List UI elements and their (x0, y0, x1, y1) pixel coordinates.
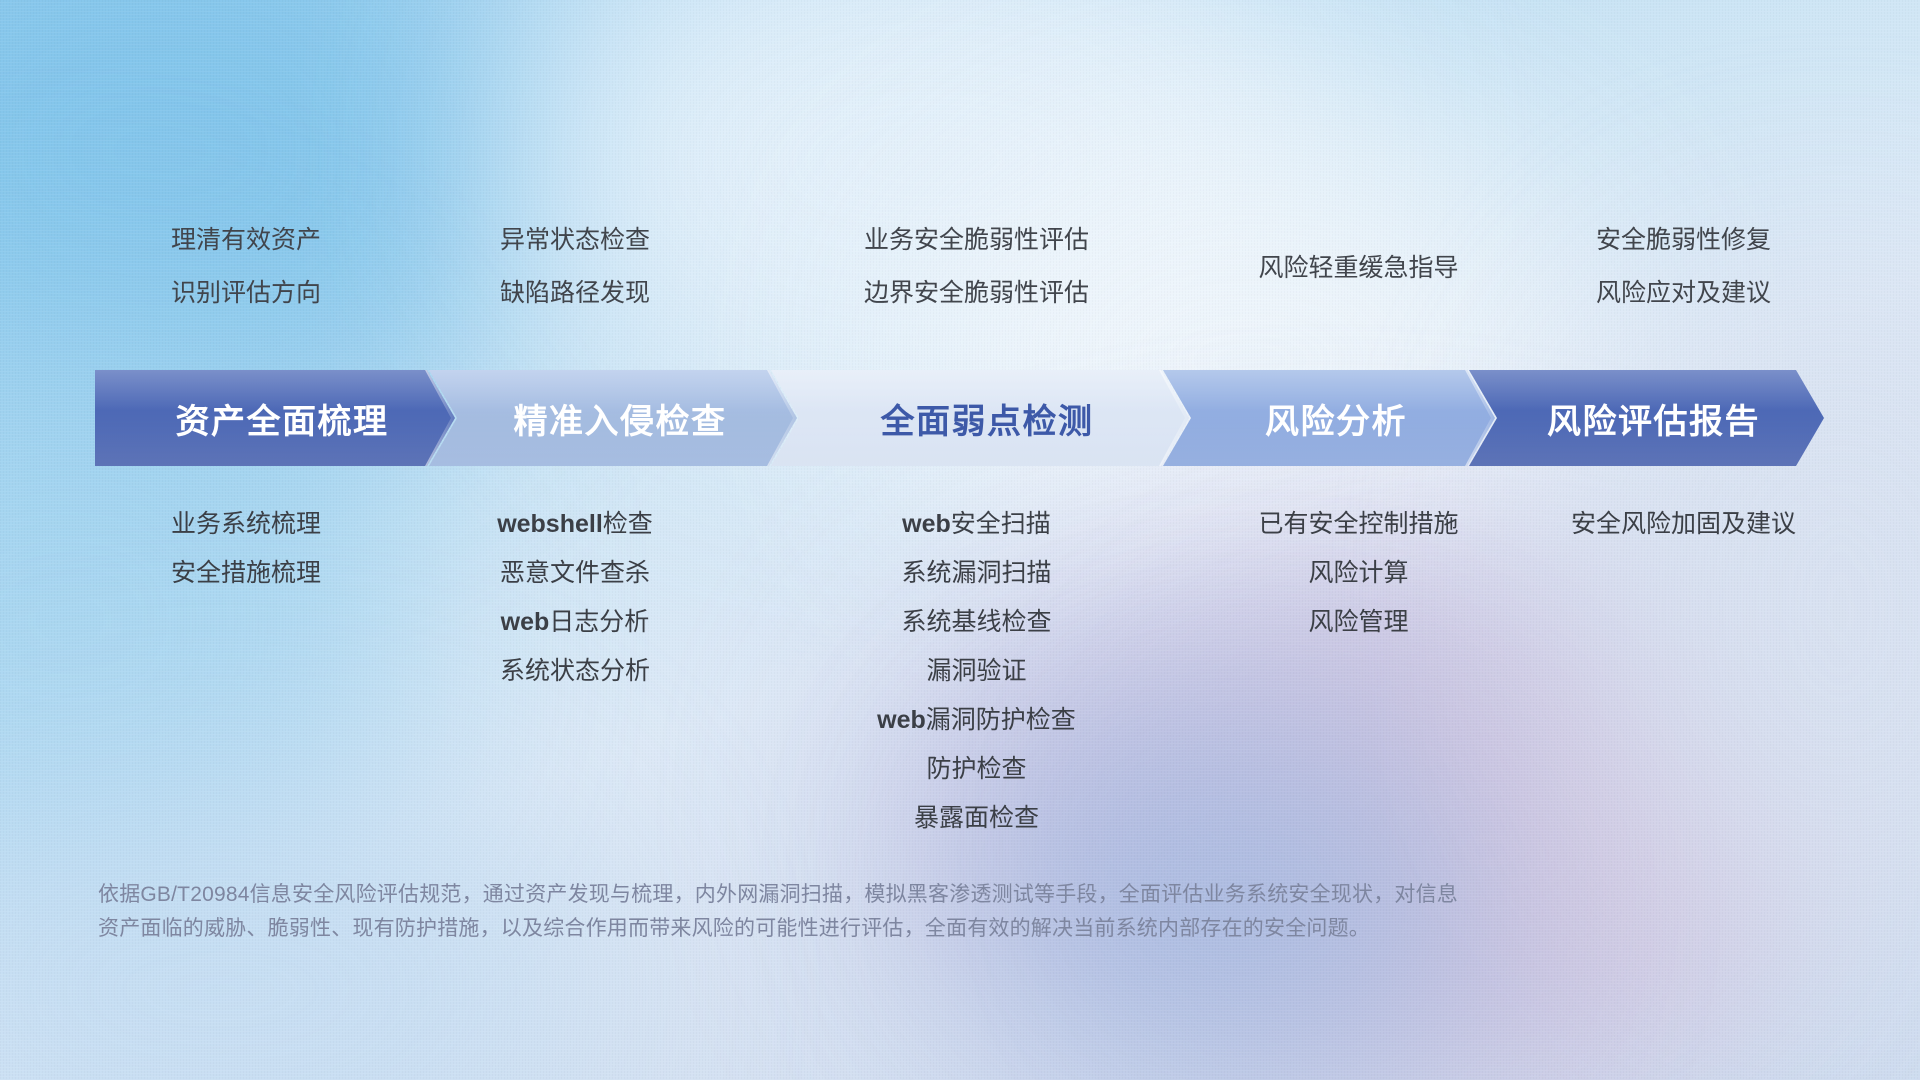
stage-title-weakness-detection: 全面弱点检测 (867, 394, 1094, 443)
stage-chevron-intrusion-check[interactable]: 精准入侵检查 (429, 370, 797, 466)
list-item: 安全措施梳理 (95, 561, 397, 586)
list-item-latin: web (877, 706, 926, 734)
stage-title-risk-analysis: 风险分析 (1251, 394, 1407, 443)
top-notes-intrusion-check: 异常状态检查 缺陷路径发现 (397, 228, 753, 306)
list-item-label: 安全风险加固及建议 (1571, 510, 1796, 538)
detail-list-asset-inventory: 业务系统梳理 安全措施梳理 (95, 512, 397, 831)
top-note: 风险应对及建议 (1517, 281, 1850, 306)
list-item: 业务系统梳理 (95, 512, 397, 537)
list-item-label: 系统状态分析 (500, 657, 650, 685)
top-notes-risk-report: 安全脆弱性修复 风险应对及建议 (1517, 228, 1850, 306)
list-item: 安全风险加固及建议 (1517, 512, 1850, 537)
top-note: 风险轻重缓急指导 (1200, 256, 1517, 281)
list-item: webshell检查 (397, 512, 753, 537)
detail-list-risk-report: 安全风险加固及建议 (1517, 512, 1850, 831)
list-item-label: 已有安全控制措施 (1258, 510, 1458, 538)
list-item-label: 漏洞验证 (926, 657, 1026, 685)
list-item-label: 系统基线检查 (901, 608, 1051, 636)
list-item: 系统基线检查 (753, 610, 1200, 635)
list-item-label: 暴露面检查 (914, 804, 1039, 832)
process-diagram: 理清有效资产 识别评估方向 异常状态检查 缺陷路径发现 业务安全脆弱性评估 边界… (0, 0, 1920, 1080)
list-item-label: 安全措施梳理 (171, 559, 321, 587)
stage-chevron-asset-inventory[interactable]: 资产全面梳理 (95, 370, 455, 466)
list-item-label: 漏洞防护检查 (926, 706, 1076, 734)
detail-list-intrusion-check: webshell检查 恶意文件查杀 web日志分析 系统状态分析 (397, 512, 753, 831)
top-note: 异常状态检查 (397, 228, 753, 253)
stage-chevron-weakness-detection[interactable]: 全面弱点检测 (771, 370, 1189, 466)
list-item: 系统状态分析 (397, 659, 753, 684)
top-notes-row: 理清有效资产 识别评估方向 异常状态检查 缺陷路径发现 业务安全脆弱性评估 边界… (95, 228, 1850, 306)
list-item: web安全扫描 (753, 512, 1200, 537)
list-item: 恶意文件查杀 (397, 561, 753, 586)
top-note: 安全脆弱性修复 (1517, 228, 1850, 253)
list-item-label: 检查 (603, 510, 653, 538)
list-item: 风险计算 (1200, 561, 1517, 586)
top-note: 边界安全脆弱性评估 (753, 281, 1200, 306)
list-item-latin: webshell (497, 510, 603, 538)
footer-line-1: 依据GB/T20984信息安全风险评估规范，通过资产发现与梳理，内外网漏洞扫描，… (98, 878, 1658, 912)
list-item: 暴露面检查 (753, 806, 1200, 831)
list-item: web日志分析 (397, 610, 753, 635)
list-item: 风险管理 (1200, 610, 1517, 635)
top-note: 理清有效资产 (95, 228, 397, 253)
list-item-label: 风险管理 (1308, 608, 1408, 636)
stage-chevron-risk-report[interactable]: 风险评估报告 (1469, 370, 1824, 466)
stage-chevron-risk-analysis[interactable]: 风险分析 (1163, 370, 1495, 466)
list-item-label: 防护检查 (926, 755, 1026, 783)
list-item-label: 恶意文件查杀 (500, 559, 650, 587)
list-item: 系统漏洞扫描 (753, 561, 1200, 586)
footer-line-2: 资产面临的威胁、脆弱性、现有防护措施，以及综合作用而带来风险的可能性进行评估，全… (98, 912, 1658, 946)
list-item: 已有安全控制措施 (1200, 512, 1517, 537)
stage-title-asset-inventory: 资产全面梳理 (162, 394, 389, 443)
top-note: 缺陷路径发现 (397, 281, 753, 306)
list-item: 漏洞验证 (753, 659, 1200, 684)
list-item-label: 日志分析 (549, 608, 649, 636)
top-note: 业务安全脆弱性评估 (753, 228, 1200, 253)
detail-list-weakness-detection: web安全扫描 系统漏洞扫描 系统基线检查 漏洞验证 web漏洞防护检查 防护检… (753, 512, 1200, 831)
list-item-latin: web (501, 608, 550, 636)
list-item: 防护检查 (753, 757, 1200, 782)
stage-title-risk-report: 风险评估报告 (1533, 394, 1760, 443)
list-item-latin: web (902, 510, 951, 538)
detail-list-risk-analysis: 已有安全控制措施 风险计算 风险管理 (1200, 512, 1517, 831)
list-item-label: 系统漏洞扫描 (901, 559, 1051, 587)
list-item-label: 安全扫描 (951, 510, 1051, 538)
top-notes-risk-analysis: 风险轻重缓急指导 (1200, 228, 1517, 306)
top-notes-weakness-detection: 业务安全脆弱性评估 边界安全脆弱性评估 (753, 228, 1200, 306)
top-note: 识别评估方向 (95, 281, 397, 306)
list-item-label: 风险计算 (1308, 559, 1408, 587)
bottom-details-row: 业务系统梳理 安全措施梳理 webshell检查 恶意文件查杀 web日志分析 … (95, 512, 1850, 831)
stage-chevron-banner: 资产全面梳理 精准入侵检查 全面弱点检测 风险分析 风险评估报告 (95, 370, 1850, 466)
footer-description: 依据GB/T20984信息安全风险评估规范，通过资产发现与梳理，内外网漏洞扫描，… (98, 878, 1658, 946)
list-item: web漏洞防护检查 (753, 708, 1200, 733)
top-notes-asset-inventory: 理清有效资产 识别评估方向 (95, 228, 397, 306)
list-item-label: 业务系统梳理 (171, 510, 321, 538)
stage-title-intrusion-check: 精准入侵检查 (500, 394, 727, 443)
